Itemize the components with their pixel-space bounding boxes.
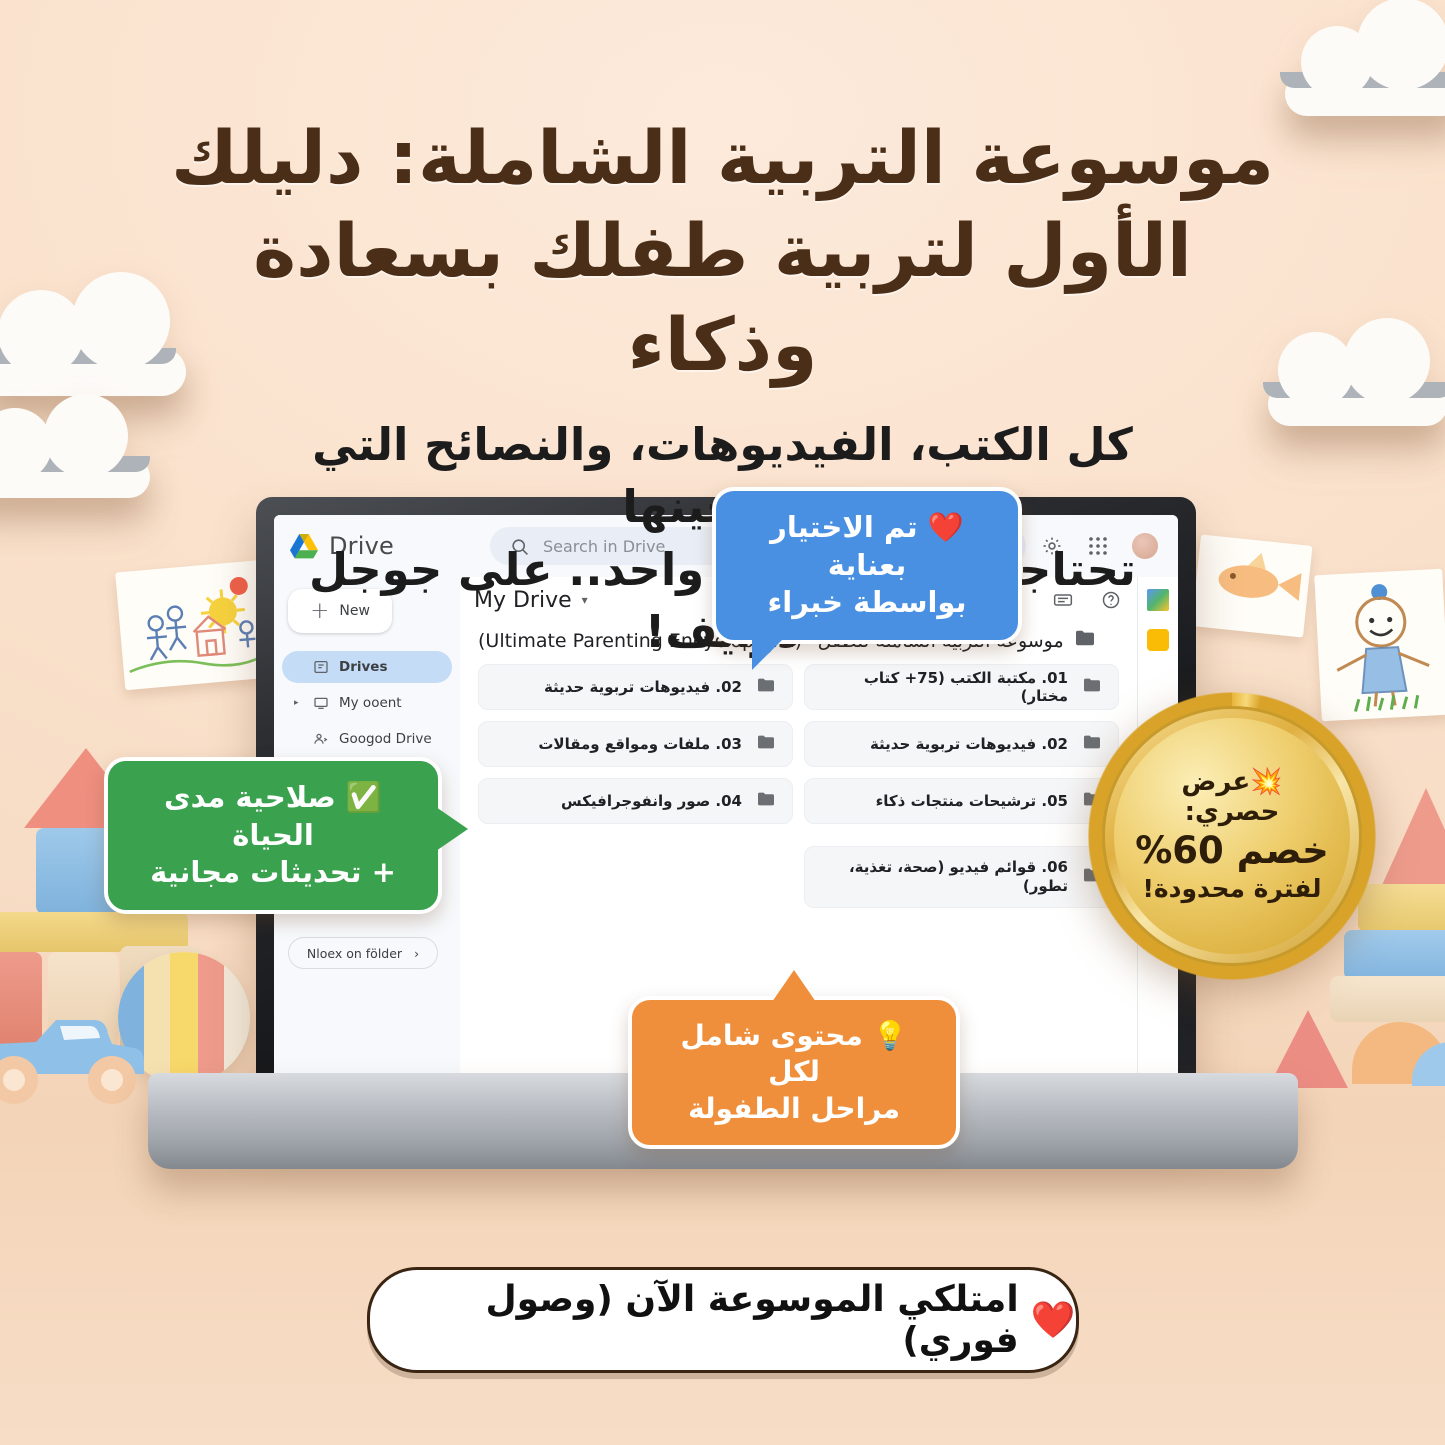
callout-lifetime-line-1: صلاحية مدى الحياة [164,780,336,852]
shared-icon [312,731,329,748]
badge-line-2: خصم 60% [1135,830,1329,873]
folder-card-label: 06. قوائم فيديو (صحة، تغذية، تطور) [821,858,1068,896]
callout-experts-line-2: بواسطة خبراء [742,584,992,622]
folder-icon [756,734,776,754]
folder-card[interactable]: 01. مكتبة الكتب (75+ كتاب مختار) [804,664,1119,710]
discount-badge: 💥عرض حصري: خصم 60% لفترة محدودة! [1088,692,1376,980]
badge-line-1: 💥عرض حصري: [1130,768,1334,828]
title-line-2: الأول لتربية طفلك بسعادة وذكاء [150,205,1295,392]
folder-grid: 01. مكتبة الكتب (75+ كتاب مختار) 02. فيد… [460,664,1137,924]
folder-card-label: 03. ملفات ومواقع ومقالات [495,735,742,753]
folder-card-label: 05. ترشيحات منتجات ذكاء [821,792,1068,810]
folder-card[interactable]: 03. ملفات ومواقع ومقالات [478,721,793,767]
sidebar-label-my-computer: My ooent [339,695,402,711]
heart-icon: ❤️ [928,510,964,544]
folder-card-label: 02. فيديوهات تربوية حديثة [495,678,742,696]
callout-experts: ❤️ تم الاختيار بعناية بواسطة خبراء [712,487,1022,644]
folder-card[interactable]: 06. قوائم فيديو (صحة، تغذية، تطور) [804,846,1119,908]
sidebar-label-shared-drive: Googod Drive [339,731,432,747]
callout-lifetime: ✅ صلاحية مدى الحياة + تحديثات مجانية [104,757,442,914]
folder-icon [756,791,776,811]
lightbulb-icon: 💡 [873,1019,908,1052]
bubble-tail [772,970,816,1002]
folder-card[interactable]: 02. فيديوهات تربوية حديثة [804,721,1119,767]
bubble-tail [752,636,786,670]
toy-cone-pink-right [1378,788,1445,894]
folder-card-label: 04. صور وانفوجرافيكس [495,792,742,810]
toy-car [0,1000,152,1110]
callout-lifetime-line-2: + تحديثات مجانية [134,854,412,892]
callout-comprehensive-line-1: محتوى شامل لكل [681,1019,863,1088]
folder-index-pill[interactable]: Nloex on földer › [288,937,438,969]
cta-button-label: امتلكي الموسوعة الآن (وصول فوري) [370,1279,1019,1361]
sidebar-item-shared-drive[interactable]: Googod Drive [282,723,452,755]
folder-card[interactable]: 02. فيديوهات تربوية حديثة [478,664,793,710]
callout-comprehensive: 💡 محتوى شامل لكل مراحل الطفولة [628,996,960,1149]
badge-line-3: لفترة محدودة! [1142,875,1321,904]
cloud-top-right [1285,28,1445,124]
title-line-1: موسوعة التربية الشاملة: دليلك [150,112,1295,205]
cta-button[interactable]: ❤️ امتلكي الموسوعة الآن (وصول فوري) [367,1267,1079,1373]
sidebar-item-my-computer[interactable]: ▸ My ooent [282,687,452,719]
folder-card[interactable]: 05. ترشيحات منتجات ذكاء [804,778,1119,824]
page-title: موسوعة التربية الشاملة: دليلك الأول لترب… [0,112,1445,392]
folder-card-label: 01. مكتبة الكتب (75+ كتاب مختار) [821,669,1068,705]
callout-comprehensive-line-2: مراحل الطفولة [658,1091,930,1127]
bubble-tail [436,807,468,851]
heart-icon: ❤️ [1031,1299,1076,1341]
callout-experts-line-1: تم الاختيار بعناية [770,510,917,582]
folder-index-pill-label: Nloex on földer [307,946,402,961]
check-icon: ✅ [346,780,382,814]
badge-face: 💥عرض حصري: خصم 60% لفترة محدودة! [1114,718,1350,954]
folder-icon [756,677,776,697]
folder-card-label: 02. فيديوهات تربوية حديثة [821,735,1068,753]
chevron-right-icon[interactable]: ▸ [294,698,302,708]
folder-card[interactable]: 04. صور وانفوجرافيكس [478,778,793,824]
computer-icon [312,695,329,712]
chevron-right-icon: › [414,946,419,961]
